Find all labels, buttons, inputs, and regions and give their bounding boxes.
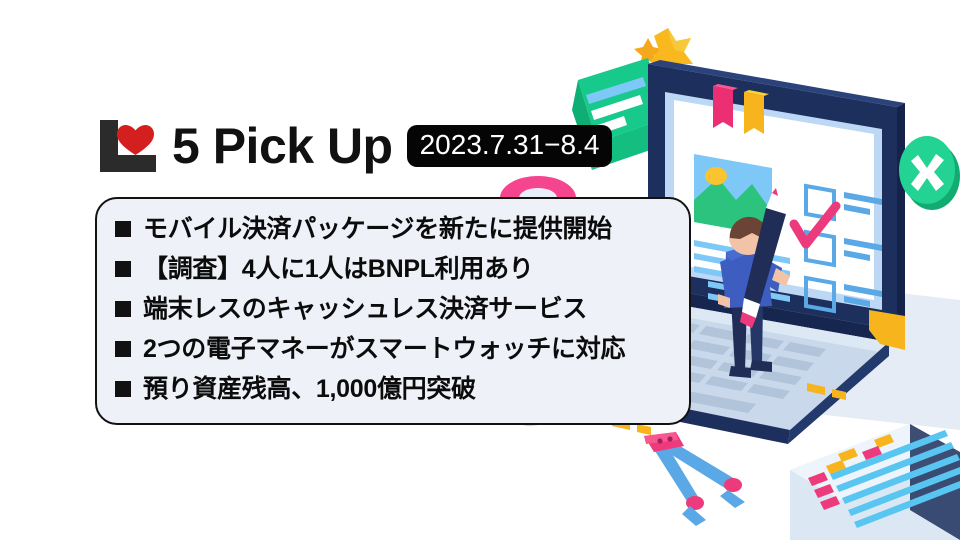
- list-item-label: モバイル決済パッケージを新たに提供開始: [143, 217, 612, 242]
- square-bullet-icon: [115, 341, 131, 357]
- page-title: 5 Pick Up: [172, 121, 393, 171]
- l-heart-logo-icon: [100, 120, 156, 172]
- list-item[interactable]: 2つの電子マネーがスマートウォッチに対応: [97, 329, 689, 369]
- compass-tool-icon: [644, 432, 745, 526]
- square-bullet-icon: [115, 381, 131, 397]
- list-item[interactable]: モバイル決済パッケージを新たに提供開始: [97, 209, 689, 249]
- green-x-coin-icon: [899, 136, 960, 210]
- list-item[interactable]: 預り資産残高、1,000億円突破: [97, 369, 689, 409]
- heart-icon: [117, 125, 154, 155]
- list-item-label: 【調査】4人に1人はBNPL利用あり: [143, 257, 533, 282]
- list-item[interactable]: 【調査】4人に1人はBNPL利用あり: [97, 249, 689, 289]
- slide-canvas: 5 Pick Up 2023.7.31−8.4 モバイル決済パッケージを新たに提…: [0, 0, 960, 540]
- list-item-label: 2つの電子マネーがスマートウォッチに対応: [143, 337, 625, 362]
- square-bullet-icon: [115, 301, 131, 317]
- date-range-badge: 2023.7.31−8.4: [407, 125, 613, 167]
- header: 5 Pick Up 2023.7.31−8.4: [100, 112, 612, 180]
- square-bullet-icon: [115, 221, 131, 237]
- list-item-label: 預り資産残高、1,000億円突破: [143, 377, 476, 402]
- list-item[interactable]: 端末レスのキャッシュレス決済サービス: [97, 289, 689, 329]
- pickup-list-card: モバイル決済パッケージを新たに提供開始 【調査】4人に1人はBNPL利用あり 端…: [95, 197, 691, 425]
- logo-foot: [100, 155, 156, 172]
- square-bullet-icon: [115, 261, 131, 277]
- list-item-label: 端末レスのキャッシュレス決済サービス: [143, 297, 587, 322]
- document-sheet-icon: [790, 424, 960, 540]
